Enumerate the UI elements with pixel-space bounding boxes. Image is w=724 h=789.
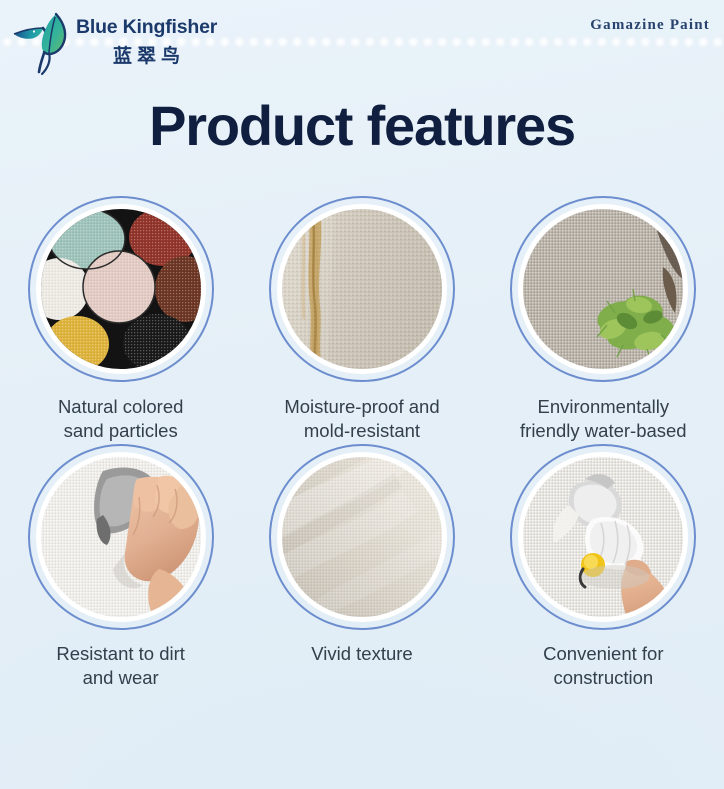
feature-item-vivid-texture: Vivid texture	[241, 444, 482, 692]
feature-photo-colored-sand	[41, 209, 201, 369]
feature-caption: Moisture-proof andmold-resistant	[241, 395, 482, 444]
feature-item-convenient-for-construction: Convenient forconstruction	[483, 444, 724, 692]
photo-ring	[28, 196, 214, 382]
photo-ring	[510, 196, 696, 382]
feature-caption: Environmentallyfriendly water-based	[483, 395, 724, 444]
brand-text-block: Blue Kingfisher 蓝翠鸟	[76, 18, 217, 66]
brand-logo-lockup: Blue Kingfisher 蓝翠鸟	[12, 6, 217, 76]
feature-photo-stained-wall	[282, 209, 442, 369]
brand-name-chinese: 蓝翠鸟	[76, 47, 217, 66]
photo-ring	[269, 444, 455, 630]
feature-photo-vivid-texture	[282, 457, 442, 617]
header-tagline: Gamazine Paint	[590, 17, 710, 34]
poster-page: Blue Kingfisher 蓝翠鸟 Gamazine Paint Produ…	[0, 0, 724, 789]
page-title: Product features	[0, 93, 724, 158]
feature-photo-trowel-construction	[523, 457, 683, 617]
feature-item-moisture-proof-and-mold-resistant: Moisture-proof andmold-resistant	[241, 196, 482, 444]
feature-item-natural-colored-sand-particles: Natural coloredsand particles	[0, 196, 241, 444]
page-header: Blue Kingfisher 蓝翠鸟 Gamazine Paint	[0, 0, 724, 82]
feature-caption: Natural coloredsand particles	[0, 395, 241, 444]
feature-caption: Convenient forconstruction	[483, 642, 724, 691]
feature-photo-eco-wall-plant	[523, 209, 683, 369]
brand-name-english: Blue Kingfisher	[76, 18, 217, 38]
feature-caption: Vivid texture	[241, 642, 482, 666]
feature-photo-hand-wiping-wall	[41, 457, 201, 617]
feature-item-environmentally-friendly-water-based: Environmentallyfriendly water-based	[483, 196, 724, 444]
photo-ring	[269, 196, 455, 382]
feature-grid: Natural coloredsand particles	[0, 196, 724, 789]
feature-item-resistant-to-dirt-and-wear: Resistant to dirtand wear	[0, 444, 241, 692]
photo-ring	[28, 444, 214, 630]
kingfisher-bird-logo-icon	[12, 8, 74, 76]
photo-ring	[510, 444, 696, 630]
feature-caption: Resistant to dirtand wear	[0, 642, 241, 691]
